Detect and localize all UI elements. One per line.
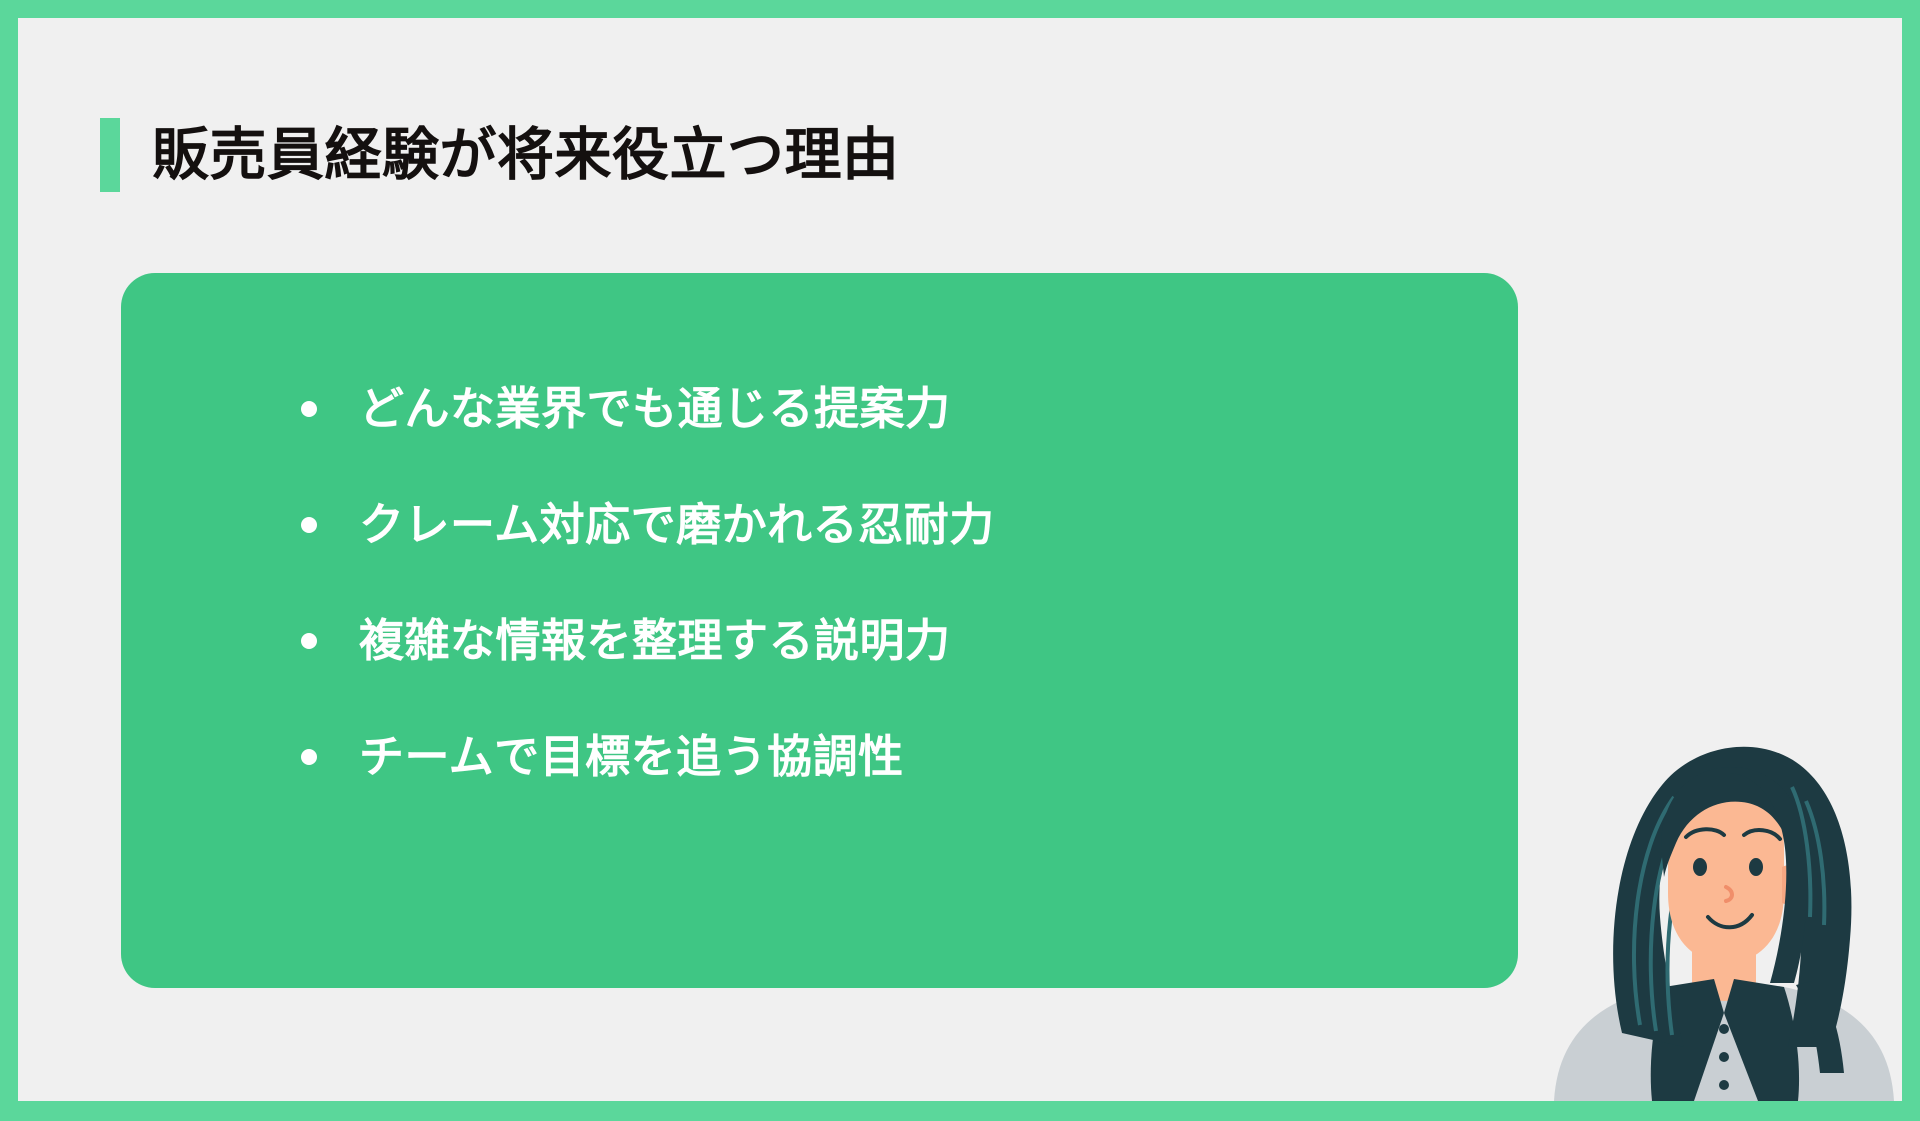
bullet-dot-icon (301, 749, 317, 765)
slide-root: 販売員経験が将来役立つ理由 どんな業界でも通じる提案力 クレーム対応で磨かれる忍… (0, 0, 1920, 1121)
list-item-label: クレーム対応で磨かれる忍耐力 (359, 499, 995, 551)
list-item: 複雑な情報を整理する説明力 (301, 583, 1478, 699)
list-item: クレーム対応で磨かれる忍耐力 (301, 467, 1478, 583)
slide-canvas: 販売員経験が将来役立つ理由 どんな業界でも通じる提案力 クレーム対応で磨かれる忍… (18, 18, 1902, 1101)
content-card: どんな業界でも通じる提案力 クレーム対応で磨かれる忍耐力 複雑な情報を整理する説… (121, 273, 1518, 988)
page-title: 販売員経験が将来役立つ理由 (100, 113, 900, 197)
bullet-dot-icon (301, 517, 317, 533)
list-item-label: 複雑な情報を整理する説明力 (359, 615, 951, 667)
title-accent-bar (100, 118, 120, 192)
bullet-dot-icon (301, 401, 317, 417)
bullet-dot-icon (301, 633, 317, 649)
title-text: 販売員経験が将来役立つ理由 (152, 127, 900, 184)
list-item: チームで目標を追う協調性 (301, 699, 1478, 815)
smiling-woman-illustration (1544, 681, 1902, 1101)
bullet-list: どんな業界でも通じる提案力 クレーム対応で磨かれる忍耐力 複雑な情報を整理する説… (301, 351, 1478, 815)
list-item: どんな業界でも通じる提案力 (301, 351, 1478, 467)
list-item-label: どんな業界でも通じる提案力 (359, 383, 951, 435)
list-item-label: チームで目標を追う協調性 (359, 731, 904, 783)
